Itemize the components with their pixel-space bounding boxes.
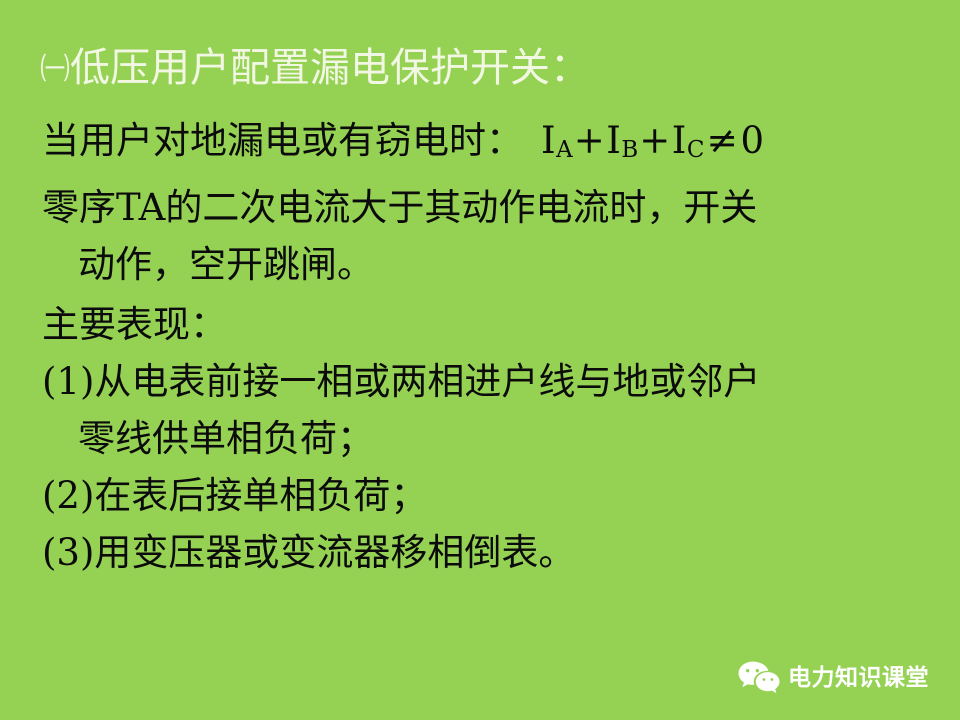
title-enumerator: ㈠ [40,52,70,87]
action-line-1: 零序TA的二次电流大于其动作电流时，开关 [42,179,932,236]
formula-sub-a: A [556,137,573,163]
formula-sub-b: B [621,137,638,163]
page-title: ㈠低压用户配置漏电保护开关： [40,44,920,94]
formula-term-ic: IC [672,119,705,162]
formula-term-ib: IB [606,119,638,162]
formula-term-ia: IA [541,119,573,162]
formula-operator-2: + [638,119,672,162]
formula-sub-c: C [687,137,705,163]
item-3: (3)用变压器或变流器移相倒表。 [42,524,932,581]
item-1-line-2: 零线供单相负荷； [42,410,932,467]
title-text: 低压用户配置漏电保护开关： [70,45,590,91]
slide-canvas: ㈠低压用户配置漏电保护开关： 当用户对地漏电或有窃电时：IA+IB+IC≠0 零… [0,0,960,720]
formula-right-side: 0 [741,119,765,162]
formula-operator-1: + [573,119,607,162]
condition-text: 当用户对地漏电或有窃电时： [42,119,523,162]
item-2: (2)在表后接单相负荷； [42,467,932,524]
watermark-label: 电力知识课堂 [788,667,929,690]
formula-relation: ≠ [704,118,740,162]
wechat-icon [737,659,781,697]
body-content: 当用户对地漏电或有窃电时：IA+IB+IC≠0 零序TA的二次电流大于其动作电流… [42,112,932,581]
condition-line: 当用户对地漏电或有窃电时：IA+IB+IC≠0 [42,112,932,179]
item-1-line-1: (1)从电表前接一相或两相进户线与地或邻户 [42,353,932,410]
watermark: 电力知识课堂 [737,656,929,700]
leakage-formula: IA+IB+IC≠0 [541,119,765,162]
symptoms-heading: 主要表现： [42,296,932,353]
action-line-2: 动作，空开跳闸。 [42,236,932,293]
